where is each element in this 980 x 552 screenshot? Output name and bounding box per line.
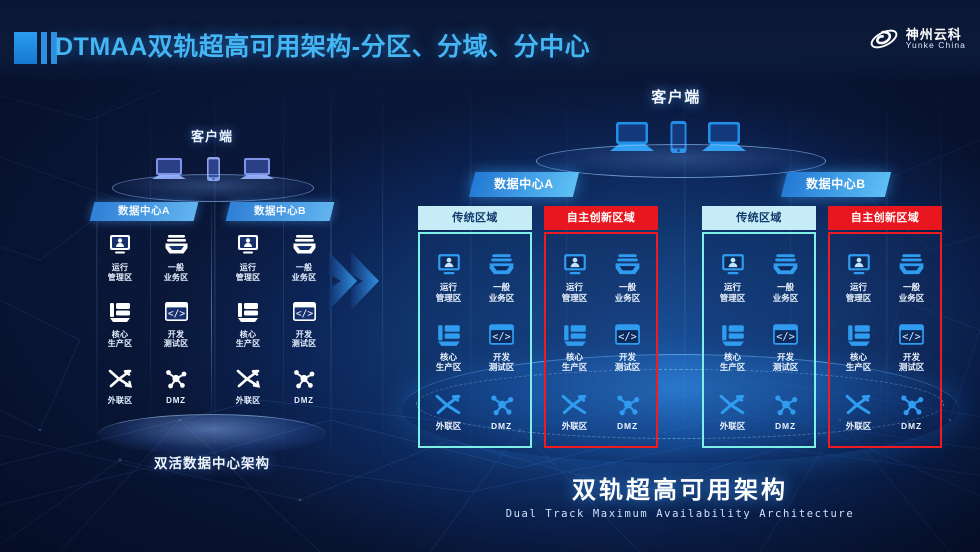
external-link-arrows-icon bbox=[222, 363, 274, 393]
zone-cell-external[interactable]: 外联区 bbox=[707, 389, 759, 432]
zone-cell-core: 核心生产区 bbox=[222, 297, 274, 350]
dmz-network-nodes-icon bbox=[150, 363, 202, 393]
zone-label: 运行管理区 bbox=[423, 282, 475, 303]
zone-label: DMZ bbox=[476, 421, 528, 432]
bottom-title-cn: 双轨超高可用架构 bbox=[396, 470, 964, 505]
zone-cell-core[interactable]: 核心生产区 bbox=[549, 320, 601, 373]
zone-label: 核心生产区 bbox=[707, 352, 759, 373]
zone-label: 外联区 bbox=[222, 396, 274, 406]
right-datacenter-panels: 传统区域 运行管理区 一般业务区 核心生产区 bbox=[396, 206, 964, 456]
external-link-arrows-icon bbox=[833, 389, 885, 419]
core-production-icon bbox=[222, 297, 274, 327]
right-client-platform bbox=[536, 144, 826, 178]
panel-innovation-zone-a[interactable]: 自主创新区域 运行管理区 一般业务区 核心生产区 bbox=[544, 206, 658, 452]
dev-test-code-icon: </> bbox=[278, 297, 330, 327]
zone-cell-external[interactable]: 外联区 bbox=[549, 389, 601, 432]
slide-header: DTMAA双轨超高可用架构-分区、分域、分中心 神州云科 Yunke China bbox=[0, 0, 980, 84]
svg-text:</>: </> bbox=[618, 331, 637, 343]
general-business-icon bbox=[278, 230, 330, 260]
zone-cell-business[interactable]: 一般业务区 bbox=[760, 250, 812, 303]
panel-body: 运行管理区 一般业务区 核心生产区 </> 开发测试区 bbox=[702, 232, 816, 448]
panel-body: 运行管理区 一般业务区 核心生产区 </> 开发测试区 bbox=[544, 232, 658, 448]
external-link-arrows-icon bbox=[94, 363, 146, 393]
zone-label: 一般业务区 bbox=[602, 282, 654, 303]
operations-management-icon bbox=[549, 250, 601, 280]
left-dc-b-badge: 数据中心B bbox=[226, 202, 335, 221]
general-business-icon bbox=[150, 230, 202, 260]
header-bars-icon bbox=[14, 30, 57, 64]
zone-label: DMZ bbox=[278, 396, 330, 406]
zone-cell-core[interactable]: 核心生产区 bbox=[833, 320, 885, 373]
operations-management-icon bbox=[423, 250, 475, 280]
zone-cell-dmz: DMZ bbox=[278, 363, 330, 406]
dev-test-code-icon: </> bbox=[476, 320, 528, 350]
svg-text:</>: </> bbox=[492, 331, 511, 343]
core-production-icon bbox=[833, 320, 885, 350]
zone-label: 运行管理区 bbox=[833, 282, 885, 303]
panel-innovation-zone-b[interactable]: 自主创新区域 运行管理区 一般业务区 核心生产区 bbox=[828, 206, 942, 452]
swirl-galaxy-icon bbox=[869, 26, 899, 52]
core-production-icon bbox=[707, 320, 759, 350]
zone-cell-devtest: </> 开发测试区 bbox=[150, 297, 202, 350]
zone-label: 一般业务区 bbox=[886, 282, 938, 303]
right-dc-b-group: 传统区域 运行管理区 一般业务区 核心生产区 bbox=[680, 206, 964, 456]
zone-label: 外联区 bbox=[833, 421, 885, 432]
zone-cell-devtest[interactable]: </> 开发测试区 bbox=[602, 320, 654, 373]
zone-label: DMZ bbox=[886, 421, 938, 432]
external-link-arrows-icon bbox=[423, 389, 475, 419]
zone-label: 运行管理区 bbox=[222, 263, 274, 283]
zone-label: 开发测试区 bbox=[150, 330, 202, 350]
zone-cell-ops[interactable]: 运行管理区 bbox=[833, 250, 885, 303]
operations-management-icon bbox=[833, 250, 885, 280]
left-diagram-caption: 双活数据中心架构 bbox=[92, 452, 332, 472]
zone-label: DMZ bbox=[602, 421, 654, 432]
zone-label: 一般业务区 bbox=[278, 263, 330, 283]
general-business-icon bbox=[476, 250, 528, 280]
zone-label: 核心生产区 bbox=[222, 330, 274, 350]
zone-cell-core: 核心生产区 bbox=[94, 297, 146, 350]
right-architecture-diagram: 客户端 数据中心A 数据中心B 传统 bbox=[396, 86, 964, 506]
panel-body: 运行管理区 一般业务区 核心生产区 </> 开发测试区 bbox=[828, 232, 942, 448]
svg-text:</>: </> bbox=[776, 331, 795, 343]
zone-label: 外联区 bbox=[94, 396, 146, 406]
zone-label: 开发测试区 bbox=[760, 352, 812, 373]
zone-cell-devtest[interactable]: </> 开发测试区 bbox=[760, 320, 812, 373]
dmz-network-nodes-icon bbox=[476, 389, 528, 419]
core-production-icon bbox=[423, 320, 475, 350]
external-link-arrows-icon bbox=[707, 389, 759, 419]
core-production-icon bbox=[94, 297, 146, 327]
panel-header: 自主创新区域 bbox=[828, 206, 942, 230]
left-base-platform bbox=[98, 414, 326, 455]
zone-cell-business: 一般业务区 bbox=[278, 230, 330, 283]
left-dc-a-badge: 数据中心A bbox=[90, 202, 199, 221]
right-dc-a-badge: 数据中心A bbox=[469, 172, 579, 197]
page-title: DTMAA双轨超高可用架构-分区、分域、分中心 bbox=[55, 27, 590, 63]
dev-test-code-icon: </> bbox=[886, 320, 938, 350]
bottom-title-block: 双轨超高可用架构 Dual Track Maximum Availability… bbox=[396, 470, 964, 520]
zone-label: 一般业务区 bbox=[760, 282, 812, 303]
operations-management-icon bbox=[707, 250, 759, 280]
zone-cell-dmz[interactable]: DMZ bbox=[760, 389, 812, 432]
zone-label: 运行管理区 bbox=[549, 282, 601, 303]
general-business-icon bbox=[886, 250, 938, 280]
left-zone-grids: 运行管理区 一般业务区 核心生产区 </> bbox=[92, 230, 332, 406]
zone-label: 核心生产区 bbox=[549, 352, 601, 373]
zone-label: 开发测试区 bbox=[886, 352, 938, 373]
zone-cell-ops: 运行管理区 bbox=[94, 230, 146, 283]
zone-label: 核心生产区 bbox=[833, 352, 885, 373]
dmz-network-nodes-icon bbox=[278, 363, 330, 393]
zone-label: 一般业务区 bbox=[476, 282, 528, 303]
right-clients-label: 客户端 bbox=[546, 86, 806, 107]
zone-cell-external: 外联区 bbox=[222, 363, 274, 406]
panel-header: 传统区域 bbox=[702, 206, 816, 230]
core-production-icon bbox=[549, 320, 601, 350]
zone-cell-dmz: DMZ bbox=[150, 363, 202, 406]
zone-cell-external[interactable]: 外联区 bbox=[423, 389, 475, 432]
dev-test-code-icon: </> bbox=[602, 320, 654, 350]
zone-cell-ops: 运行管理区 bbox=[222, 230, 274, 283]
zone-label: 核心生产区 bbox=[94, 330, 146, 350]
zone-cell-business[interactable]: 一般业务区 bbox=[886, 250, 938, 303]
dmz-network-nodes-icon bbox=[886, 389, 938, 419]
dev-test-code-icon: </> bbox=[150, 297, 202, 327]
svg-text:</>: </> bbox=[295, 309, 312, 320]
zone-cell-ops[interactable]: 运行管理区 bbox=[549, 250, 601, 303]
brand-name-cn: 神州云科 bbox=[906, 28, 966, 42]
dmz-network-nodes-icon bbox=[760, 389, 812, 419]
zone-label: 开发测试区 bbox=[476, 352, 528, 373]
zone-cell-core[interactable]: 核心生产区 bbox=[423, 320, 475, 373]
zone-label: DMZ bbox=[760, 421, 812, 432]
zone-cell-core[interactable]: 核心生产区 bbox=[707, 320, 759, 373]
general-business-icon bbox=[760, 250, 812, 280]
panel-header: 传统区域 bbox=[418, 206, 532, 230]
zone-cell-devtest: </> 开发测试区 bbox=[278, 297, 330, 350]
zone-label: 一般业务区 bbox=[150, 263, 202, 283]
left-dc-a-zones: 运行管理区 一般业务区 核心生产区 </> bbox=[92, 230, 204, 406]
zone-cell-external: 外联区 bbox=[94, 363, 146, 406]
panel-header: 自主创新区域 bbox=[544, 206, 658, 230]
zone-cell-external[interactable]: 外联区 bbox=[833, 389, 885, 432]
zone-cell-dmz[interactable]: DMZ bbox=[476, 389, 528, 432]
brand-logo: 神州云科 Yunke China bbox=[869, 26, 966, 52]
double-chevron-right-icon bbox=[327, 248, 387, 318]
left-architecture-diagram: 客户端 数据中心A 数据中心B bbox=[92, 126, 332, 456]
panel-traditional-zone-a[interactable]: 传统区域 运行管理区 一般业务区 核心生产区 bbox=[418, 206, 532, 452]
zone-label: 运行管理区 bbox=[94, 263, 146, 283]
zone-cell-ops[interactable]: 运行管理区 bbox=[707, 250, 759, 303]
zone-cell-devtest[interactable]: </> 开发测试区 bbox=[476, 320, 528, 373]
zone-cell-business[interactable]: 一般业务区 bbox=[602, 250, 654, 303]
left-dc-b-zones: 运行管理区 一般业务区 核心生产区 </> bbox=[220, 230, 332, 406]
zone-cell-dmz[interactable]: DMZ bbox=[886, 389, 938, 432]
dmz-network-nodes-icon bbox=[602, 389, 654, 419]
left-datacenter-badges: 数据中心A 数据中心B bbox=[92, 202, 332, 221]
right-dc-b-badge: 数据中心B bbox=[781, 172, 891, 197]
operations-management-icon bbox=[94, 230, 146, 260]
panel-body: 运行管理区 一般业务区 核心生产区 </> 开发测试区 bbox=[418, 232, 532, 448]
svg-text:</>: </> bbox=[902, 331, 921, 343]
bottom-title-en: Dual Track Maximum Availability Architec… bbox=[396, 508, 964, 520]
zone-label: 外联区 bbox=[549, 421, 601, 432]
zone-cell-devtest[interactable]: </> 开发测试区 bbox=[886, 320, 938, 373]
zone-label: 开发测试区 bbox=[602, 352, 654, 373]
general-business-icon bbox=[602, 250, 654, 280]
zone-label: 外联区 bbox=[423, 421, 475, 432]
operations-management-icon bbox=[222, 230, 274, 260]
zone-label: 外联区 bbox=[707, 421, 759, 432]
right-dc-a-group: 传统区域 运行管理区 一般业务区 核心生产区 bbox=[396, 206, 680, 456]
zone-label: DMZ bbox=[150, 396, 202, 406]
svg-text:</>: </> bbox=[167, 309, 184, 320]
left-clients-label: 客户端 bbox=[92, 126, 332, 145]
zone-cell-business[interactable]: 一般业务区 bbox=[476, 250, 528, 303]
zone-cell-dmz[interactable]: DMZ bbox=[602, 389, 654, 432]
zone-label: 核心生产区 bbox=[423, 352, 475, 373]
zone-cell-business: 一般业务区 bbox=[150, 230, 202, 283]
zone-label: 开发测试区 bbox=[278, 330, 330, 350]
zone-cell-ops[interactable]: 运行管理区 bbox=[423, 250, 475, 303]
zone-label: 运行管理区 bbox=[707, 282, 759, 303]
left-client-platform bbox=[112, 174, 314, 202]
brand-name-en: Yunke China bbox=[906, 41, 966, 50]
external-link-arrows-icon bbox=[549, 389, 601, 419]
panel-traditional-zone-b[interactable]: 传统区域 运行管理区 一般业务区 核心生产区 bbox=[702, 206, 816, 452]
dev-test-code-icon: </> bbox=[760, 320, 812, 350]
slide-canvas: DTMAA双轨超高可用架构-分区、分域、分中心 神州云科 Yunke China… bbox=[0, 0, 980, 552]
